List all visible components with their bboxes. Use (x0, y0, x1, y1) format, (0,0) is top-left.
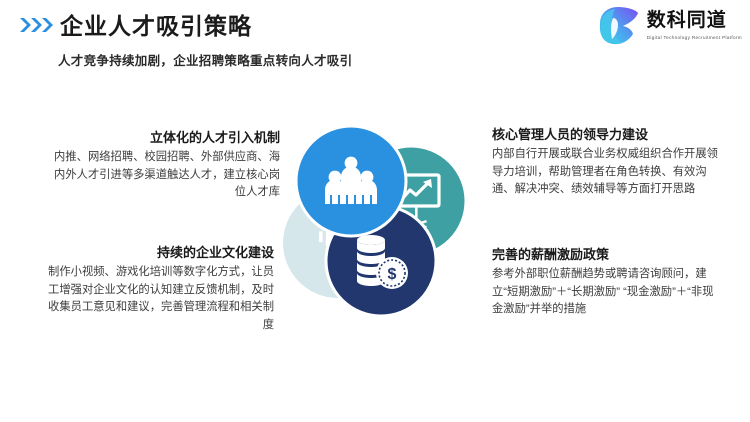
block-body: 制作小视频、游戏化培训等数字化方式，让员工增强对企业文化的认知建立反馈机制，及时… (42, 264, 274, 334)
block-title: 核心管理人员的领导力建设 (492, 125, 724, 145)
logo-name: 数科同道 (647, 10, 742, 32)
svg-text:$: $ (388, 266, 397, 283)
slide-header: 企业人才吸引策略 人才竞争持续加剧，企业招聘策略重点转向人才吸引 (0, 0, 750, 80)
block-body: 内部自行开展或联合业务权威组织合作开展领导力培训，帮助管理者在角色转换、有效沟通… (492, 146, 724, 199)
content-block-top-right: 核心管理人员的领导力建设 内部自行开展或联合业务权威组织合作开展领导力培训，帮助… (492, 125, 724, 199)
content-block-bottom-left: 持续的企业文化建设 制作小视频、游戏化培训等数字化方式，让员工增强对企业文化的认… (42, 243, 274, 334)
brand-logo: 数科同道 Digital Technology Recruitment Plat… (595, 4, 742, 46)
block-body: 参考外部职位薪酬趋势或聘请咨询顾问，建立“短期激励”＋“长期激励” “现金激励”… (492, 266, 724, 319)
page-subtitle: 人才竞争持续加剧，企业招聘策略重点转向人才吸引 (58, 52, 352, 70)
content-block-top-left: 立体化的人才引入机制 内推、网络招聘、校园招聘、外部供应商、海内外人才引进等多渠… (48, 128, 280, 202)
content-block-bottom-right: 完善的薪酬激励政策 参考外部职位薪酬趋势或聘请咨询顾问，建立“短期激励”＋“长期… (492, 245, 724, 319)
block-title: 持续的企业文化建设 (42, 243, 274, 263)
page-title: 企业人才吸引策略 (60, 11, 252, 41)
chevrons-right-icon (20, 17, 58, 33)
block-title: 立体化的人才引入机制 (48, 128, 280, 148)
block-title: 完善的薪酬激励政策 (492, 245, 724, 265)
slide: 企业人才吸引策略 人才竞争持续加剧，企业招聘策略重点转向人才吸引 (0, 0, 750, 422)
circle-recruiting (296, 126, 406, 236)
brand-mark-icon (595, 4, 641, 46)
block-body: 内推、网络招聘、校园招聘、外部供应商、海内外人才引进等多渠道触达人才，建立核心岗… (48, 149, 280, 202)
four-overlapping-circles-diagram: $ (283, 118, 468, 318)
logo-text: 数科同道 Digital Technology Recruitment Plat… (647, 8, 742, 42)
logo-tagline: Digital Technology Recruitment Platform (647, 34, 742, 42)
